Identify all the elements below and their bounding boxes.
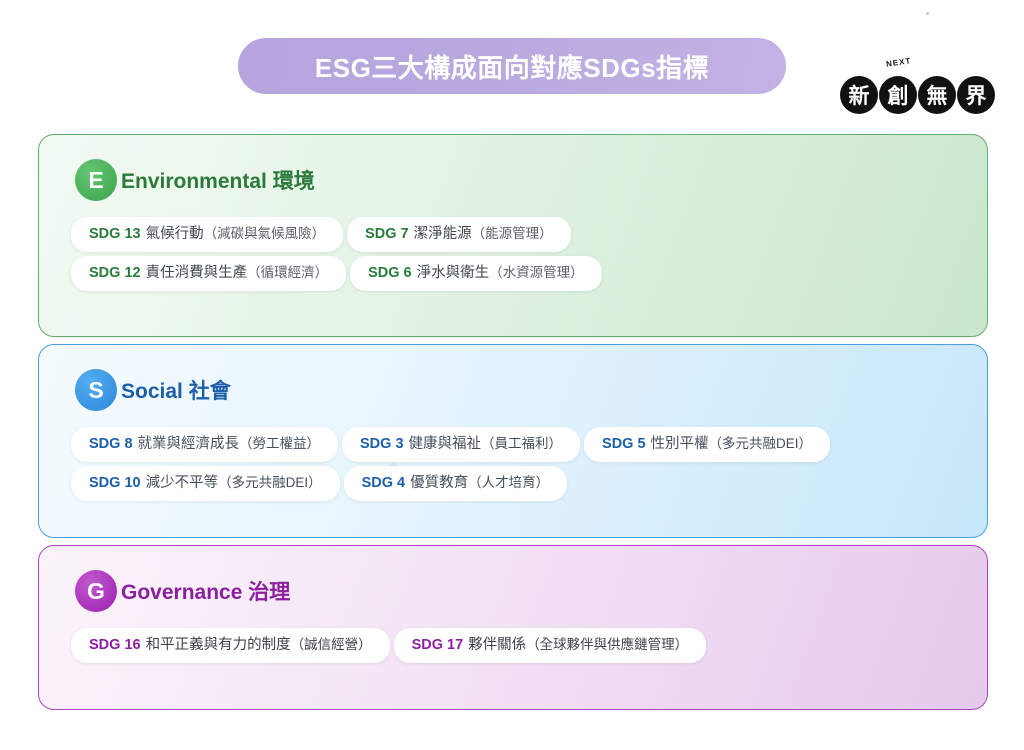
sdg-note: （多元共融DEI） bbox=[218, 475, 322, 492]
logo-tagline: NEXT bbox=[885, 56, 911, 68]
logo-char-1: 新 bbox=[840, 76, 878, 114]
panel-header-social: S Social 社會 bbox=[39, 345, 987, 411]
sdg-title: 減少不平等 bbox=[146, 474, 219, 492]
sdg-note: （循環經濟） bbox=[247, 265, 328, 282]
sdg-pill[interactable]: SDG 4 優質教育 （人才培育） bbox=[344, 466, 568, 501]
sdg-pill[interactable]: SDG 10 減少不平等 （多元共融DEI） bbox=[71, 466, 340, 501]
sdg-title: 優質教育 bbox=[410, 474, 468, 492]
sdg-pill[interactable]: SDG 17 夥伴關係 （全球夥伴與供應鏈管理） bbox=[394, 628, 707, 663]
sdg-pill[interactable]: SDG 13 氣候行動 （減碳與氣候風險） bbox=[71, 217, 343, 252]
sdg-title: 性別平權 bbox=[651, 435, 709, 453]
page-header: ESG三大構成面向對應SDGs指標 NEXT 新 創 無 界 bbox=[0, 0, 1024, 128]
panel-title-zh: 社會 bbox=[189, 380, 231, 403]
panel-governance: G Governance 治理 SDG 16 和平正義與有力的制度 （誠信經營）… bbox=[38, 545, 988, 710]
sdg-rows-governance: SDG 16 和平正義與有力的制度 （誠信經營） SDG 17 夥伴關係 （全球… bbox=[39, 612, 987, 663]
sdg-number: SDG 6 bbox=[368, 264, 412, 282]
sdg-number: SDG 13 bbox=[89, 225, 141, 243]
logo-characters: 新 創 無 界 bbox=[840, 76, 995, 114]
panel-header-environmental: E Environmental 環境 bbox=[39, 135, 987, 201]
panel-header-governance: G Governance 治理 bbox=[39, 546, 987, 612]
sdg-number: SDG 4 bbox=[362, 474, 406, 492]
logo-char-4: 界 bbox=[957, 76, 995, 114]
sdg-title: 責任消費與生產 bbox=[146, 264, 248, 282]
panel-title-en: Social bbox=[121, 380, 183, 403]
sdg-note: （員工福利） bbox=[481, 436, 562, 453]
sdg-pill[interactable]: SDG 8 就業與經濟成長 （勞工權益） bbox=[71, 427, 338, 462]
sdg-row: SDG 12 責任消費與生產 （循環經濟） SDG 6 淨水與衛生 （水資源管理… bbox=[71, 256, 987, 291]
sdg-title: 健康與福祉 bbox=[409, 435, 482, 453]
sdg-note: （減碳與氣候風險） bbox=[204, 226, 326, 243]
sdg-title: 就業與經濟成長 bbox=[138, 435, 240, 453]
sdg-pill[interactable]: SDG 5 性別平權 （多元共融DEI） bbox=[584, 427, 830, 462]
sdg-pill[interactable]: SDG 16 和平正義與有力的制度 （誠信經營） bbox=[71, 628, 390, 663]
sdg-row: SDG 16 和平正義與有力的制度 （誠信經營） SDG 17 夥伴關係 （全球… bbox=[71, 628, 987, 663]
sdg-note: （全球夥伴與供應鏈管理） bbox=[526, 637, 688, 654]
sdg-note: （多元共融DEI） bbox=[709, 436, 813, 453]
badge-g-icon: G bbox=[75, 570, 117, 612]
panel-title-zh: 治理 bbox=[248, 581, 290, 604]
corner-dot-mark bbox=[926, 12, 929, 15]
logo-char-3: 無 bbox=[918, 76, 956, 114]
sdg-note: （水資源管理） bbox=[489, 265, 584, 282]
badge-s-icon: S bbox=[75, 369, 117, 411]
sdg-number: SDG 3 bbox=[360, 435, 404, 453]
panel-social: S Social 社會 SDG 8 就業與經濟成長 （勞工權益） SDG 3 健… bbox=[38, 344, 988, 538]
sdg-number: SDG 7 bbox=[365, 225, 409, 243]
sdg-title: 和平正義與有力的制度 bbox=[146, 636, 291, 654]
sdg-note: （人才培育） bbox=[468, 475, 549, 492]
sdg-pill[interactable]: SDG 3 健康與福祉 （員工福利） bbox=[342, 427, 580, 462]
brand-logo: NEXT 新 創 無 界 bbox=[840, 58, 992, 120]
sdg-row: SDG 8 就業與經濟成長 （勞工權益） SDG 3 健康與福祉 （員工福利） … bbox=[71, 427, 987, 462]
sdg-title: 淨水與衛生 bbox=[417, 264, 490, 282]
badge-e-icon: E bbox=[75, 159, 117, 201]
sdg-rows-environmental: SDG 13 氣候行動 （減碳與氣候風險） SDG 7 潔淨能源 （能源管理） … bbox=[39, 201, 987, 291]
sdg-number: SDG 17 bbox=[412, 636, 464, 654]
logo-char-2: 創 bbox=[879, 76, 917, 114]
panel-title-en: Environmental bbox=[121, 170, 267, 193]
sdg-pill[interactable]: SDG 7 潔淨能源 （能源管理） bbox=[347, 217, 571, 252]
panel-environmental: E Environmental 環境 SDG 13 氣候行動 （減碳與氣候風險）… bbox=[38, 134, 988, 337]
sdg-title: 夥伴關係 bbox=[468, 636, 526, 654]
sdg-note: （勞工權益） bbox=[239, 436, 320, 453]
sdg-rows-social: SDG 8 就業與經濟成長 （勞工權益） SDG 3 健康與福祉 （員工福利） … bbox=[39, 411, 987, 501]
sdg-row: SDG 10 減少不平等 （多元共融DEI） SDG 4 優質教育 （人才培育） bbox=[71, 466, 987, 501]
sdg-number: SDG 8 bbox=[89, 435, 133, 453]
panel-title-social: Social 社會 bbox=[113, 375, 231, 405]
sdg-row: SDG 13 氣候行動 （減碳與氣候風險） SDG 7 潔淨能源 （能源管理） bbox=[71, 217, 987, 252]
page-title: ESG三大構成面向對應SDGs指標 bbox=[315, 48, 709, 85]
sdg-number: SDG 16 bbox=[89, 636, 141, 654]
panel-title-governance: Governance 治理 bbox=[113, 576, 290, 606]
page-title-banner: ESG三大構成面向對應SDGs指標 bbox=[238, 38, 786, 94]
sdg-number: SDG 10 bbox=[89, 474, 141, 492]
sdg-title: 潔淨能源 bbox=[414, 225, 472, 243]
panel-title-zh: 環境 bbox=[273, 170, 315, 193]
sdg-note: （誠信經營） bbox=[291, 637, 372, 654]
panel-title-environmental: Environmental 環境 bbox=[113, 165, 315, 195]
sdg-title: 氣候行動 bbox=[146, 225, 204, 243]
sdg-number: SDG 5 bbox=[602, 435, 646, 453]
sdg-number: SDG 12 bbox=[89, 264, 141, 282]
sdg-pill[interactable]: SDG 6 淨水與衛生 （水資源管理） bbox=[350, 256, 602, 291]
sdg-pill[interactable]: SDG 12 責任消費與生產 （循環經濟） bbox=[71, 256, 346, 291]
sdg-note: （能源管理） bbox=[472, 226, 553, 243]
esg-panels: E Environmental 環境 SDG 13 氣候行動 （減碳與氣候風險）… bbox=[38, 134, 988, 717]
panel-title-en: Governance bbox=[121, 581, 242, 604]
